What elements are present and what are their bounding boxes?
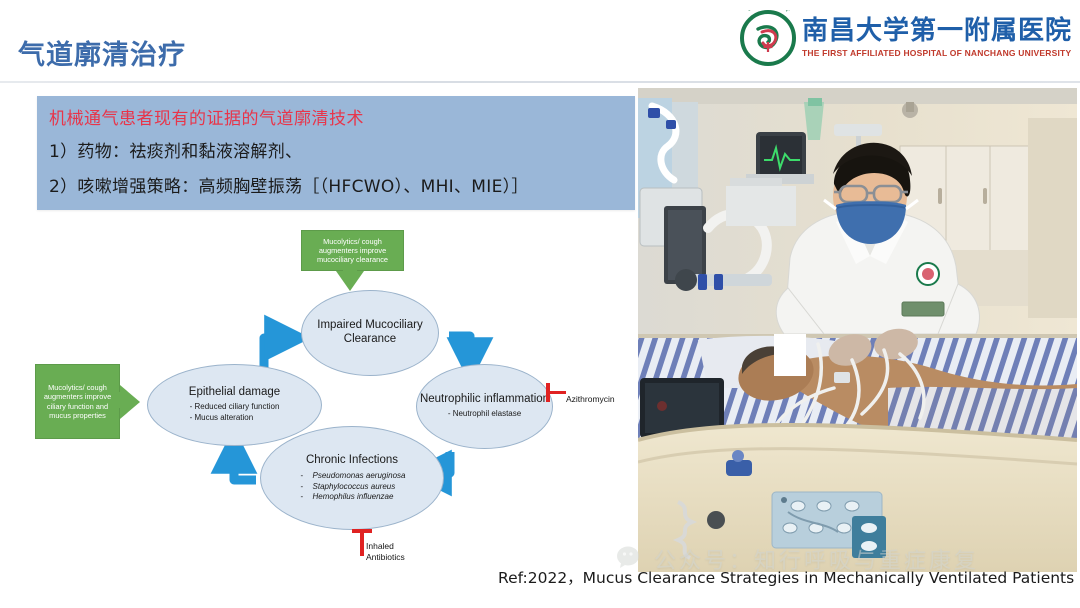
clinical-photo [638,88,1077,572]
node-title: Neutrophilic inflammation [420,393,549,407]
green-arrow-down-head [336,271,364,291]
node-neutrophilic-inflammation: Neutrophilic inflammation - Neutrophil e… [416,364,553,449]
inhibition-bar-azithromycin-stem [548,391,566,394]
callout-item-2: 2）咳嗽增强策略：高频胸壁振荡［（HFCWO）、MHI、MIE）］ [49,172,529,197]
node-subitem: Pseudomonas aeruginosa [299,471,406,481]
annotation-line-2: Antibiotics [366,552,405,563]
node-subitem: Staphylococcus aureus [299,482,406,492]
hospital-logo: 南昌大学第一附属医院 南昌大学第一附属医院 THE FIRST AFFILIAT… [740,8,1072,68]
annotation-inhaled-antibiotics: Inhaled Antibiotics [366,541,405,564]
evidence-callout-box: 机械通气患者现有的证据的气道廓清技术 1）药物：祛痰剂和黏液溶解剂、 2）咳嗽增… [37,96,635,210]
green-arrow-right-head [120,385,140,419]
icu-photo-illustration [638,88,1077,572]
hospital-name-cn: 南昌大学第一附属医院 [802,18,1072,45]
node-subitems: - Reduced ciliary function - Mucus alter… [190,402,280,424]
node-title: Chronic Infections [306,454,398,468]
node-subitem: - Reduced ciliary function [190,402,280,413]
callout-heading: 机械通气患者现有的证据的气道廓清技术 [49,104,364,129]
hospital-logo-text: 南昌大学第一附属医院 THE FIRST AFFILIATED HOSPITAL… [802,18,1072,57]
hospital-crest-icon: 南昌大学第一附属医院 [740,10,796,66]
page-title: 气道廓清治疗 [18,33,186,72]
annotation-azithromycin: Azithromycin [566,394,615,404]
slide-header: 气道廓清治疗 南昌大学第一附属医院 南昌大学第一附属医院 THE FIRST [0,0,1080,82]
node-title: Epithelial damage [189,386,280,400]
node-subitems: - Neutrophil elastase [448,409,521,420]
node-impaired-mucociliary-clearance: Impaired Mucociliary Clearance [301,290,439,376]
hospital-name-en: THE FIRST AFFILIATED HOSPITAL OF NANCHAN… [802,48,1072,58]
reference-citation: Ref:2022，Mucus Clearance Strategies in M… [498,566,1074,588]
green-box-mucociliary-clearance: Mucolytics/ cough augmenters improve muc… [301,230,404,271]
callout-item-1: 1）药物：祛痰剂和黏液溶解剂、 [49,137,302,162]
mucus-clearance-cycle-diagram: Mucolytics/ cough augmenters improve muc… [18,218,636,590]
node-chronic-infections: Chronic Infections Pseudomonas aeruginos… [260,426,444,530]
node-subitems: Pseudomonas aeruginosa Staphylococcus au… [299,469,406,502]
annotation-line-1: Inhaled [366,541,405,552]
node-subitem: - Mucus alteration [190,413,280,424]
green-box-ciliary-function: Mucolytics/ cough augmenters improve cil… [35,364,120,439]
header-divider [0,81,1080,83]
node-epithelial-damage: Epithelial damage - Reduced ciliary func… [147,364,322,446]
node-title: Impaired Mucociliary Clearance [302,319,438,347]
inhibition-bar-inhaled-antibiotics-stem [360,530,364,556]
node-subitem: Hemophilus influenzae [299,492,406,502]
node-subitem: - Neutrophil elastase [448,409,521,420]
